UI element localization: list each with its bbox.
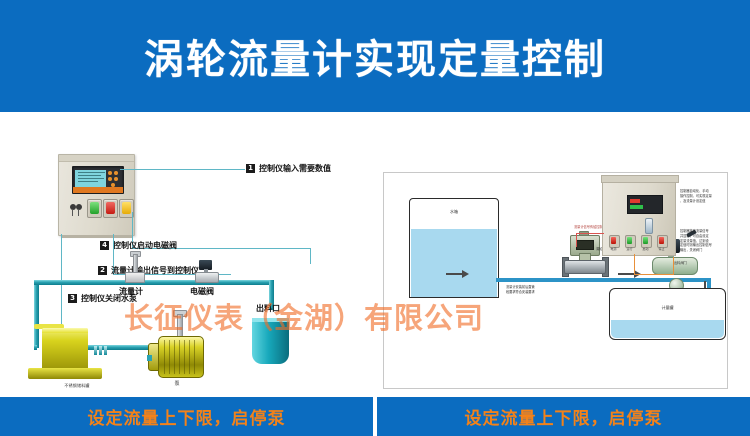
banner-right: 设定流量上下限，启停泵 bbox=[377, 397, 750, 436]
outlet-container bbox=[252, 318, 289, 364]
water-tank-level bbox=[411, 229, 497, 297]
cabinet-top-trim bbox=[59, 155, 134, 162]
callout-3-number: 3 bbox=[68, 294, 77, 303]
tank-caption: 不锈钢储料罐 bbox=[42, 383, 112, 389]
pump-caption: 泵 bbox=[148, 380, 206, 387]
pipe-riser-left bbox=[34, 280, 39, 348]
flowmeter-left bbox=[125, 268, 143, 281]
pipe-main-horizontal bbox=[34, 280, 274, 285]
flowmeter-label: 流量计 bbox=[119, 286, 143, 297]
start-lamp-label: 启动 bbox=[640, 247, 651, 251]
leader-line-1 bbox=[120, 169, 245, 170]
tank-base bbox=[28, 368, 102, 379]
receiving-tank-level bbox=[611, 320, 724, 338]
callout-2: 2 流量计输出信号到控制仪 bbox=[98, 266, 199, 275]
stop-button[interactable] bbox=[103, 199, 118, 218]
signal-line-flowmeter bbox=[576, 233, 577, 247]
solenoid-body bbox=[195, 272, 219, 283]
pump-motor bbox=[148, 336, 206, 376]
display-bottom-bar bbox=[73, 187, 123, 193]
control-line-valve-c bbox=[673, 257, 674, 275]
control-cabinet-left[interactable] bbox=[58, 154, 135, 236]
callout-1-number: 1 bbox=[246, 164, 255, 173]
leader-line-4c bbox=[310, 248, 311, 264]
water-tank: 水箱 bbox=[409, 198, 499, 298]
callout-2-number: 2 bbox=[98, 266, 107, 275]
callout-1: 1 控制仪输入需要数值 bbox=[246, 164, 331, 173]
solenoid-valve-left bbox=[195, 260, 217, 282]
start-button[interactable] bbox=[87, 199, 102, 218]
content-area: 1 控制仪输入需要数值 4 控制仪启动电磁阀 2 流量计输出信号到控制仪 3 bbox=[0, 112, 750, 397]
pipe-install-note: 流量计安装前后直管 段要求符合安装要求 bbox=[506, 285, 535, 295]
pump-inlet bbox=[147, 355, 152, 361]
controller-display[interactable] bbox=[72, 166, 124, 194]
page-title: 涡轮流量计实现定量控制 bbox=[144, 27, 606, 85]
display-value-secondary bbox=[630, 205, 643, 209]
outlet-label: 出料口 bbox=[256, 303, 280, 314]
flowmeter-pipe-body bbox=[564, 260, 606, 274]
flowmeter-body bbox=[125, 272, 145, 283]
callout-1-label: 控制仪输入需要数值 bbox=[259, 165, 331, 173]
source-tank bbox=[42, 328, 88, 370]
display-screen-area bbox=[75, 170, 106, 187]
solenoid-valve-label: 电磁阀 bbox=[190, 286, 214, 297]
receiving-tank-label: 计量罐 bbox=[610, 305, 725, 311]
tank-lid bbox=[42, 328, 88, 333]
banner-left-text: 设定流量上下限，启停泵 bbox=[88, 404, 286, 429]
keypad-icon[interactable] bbox=[108, 171, 120, 187]
flowmeter-display bbox=[576, 240, 594, 250]
selector-knob-icon[interactable] bbox=[70, 199, 82, 211]
water-tank-label: 水箱 bbox=[410, 209, 498, 215]
valve-body bbox=[652, 257, 698, 275]
outlet-valve-note: 出料阀门 bbox=[674, 261, 687, 266]
banner-right-text: 设定流量上下限，启停泵 bbox=[465, 404, 663, 429]
callout-4-label: 控制仪启动电磁阀 bbox=[113, 242, 177, 250]
flow-arrow-1 bbox=[462, 270, 469, 278]
cabinet-top-note: 控制器自动化、手动 操作控制、可实现定量 、及流量计设定值 bbox=[680, 189, 712, 203]
control-line-valve-a bbox=[634, 254, 635, 274]
page-header: 涡轮流量计实现定量控制 bbox=[0, 0, 750, 112]
signal-line-flowmeter-h bbox=[576, 233, 604, 234]
controller-display-right[interactable] bbox=[627, 195, 663, 214]
stop-lamp-label: 停止 bbox=[656, 247, 667, 251]
cabinet-right-top-trim bbox=[601, 175, 679, 183]
power-lamp-label: 电源 bbox=[608, 247, 619, 251]
cabinet-side-note: 控制器接收流量信号 并显示，可自由设定 定量流量值，达到设 定值时则输出控制信号… bbox=[680, 229, 712, 253]
display-value-primary bbox=[630, 199, 640, 203]
right-schematic-panel: 水箱 bbox=[383, 172, 728, 389]
bottom-banner-row: 设定流量上下限，启停泵 设定流量上下限，启停泵 bbox=[0, 397, 750, 436]
callout-4: 4 控制仪启动电磁阀 bbox=[100, 241, 177, 250]
banner-left: 设定流量上下限，启停泵 bbox=[0, 397, 373, 436]
callout-4-number: 4 bbox=[100, 241, 109, 250]
outlet-container-rim bbox=[252, 318, 289, 322]
cabinet-foot-trim bbox=[61, 235, 132, 238]
control-line-valve-b bbox=[634, 274, 674, 275]
control-cabinet-right[interactable]: 电源 运行 启动 停止 bbox=[602, 178, 676, 256]
run-lamp-label: 运行 bbox=[624, 247, 635, 251]
toggle-switch[interactable] bbox=[645, 218, 653, 234]
receiving-tank: 计量罐 bbox=[609, 288, 726, 340]
motor-body bbox=[158, 336, 204, 378]
screenshot-root: 涡轮流量计实现定量控制 bbox=[0, 0, 750, 436]
left-schematic-diagram: 1 控制仪输入需要数值 4 控制仪启动电磁阀 2 流量计输出信号到控制仪 3 bbox=[20, 140, 375, 402]
